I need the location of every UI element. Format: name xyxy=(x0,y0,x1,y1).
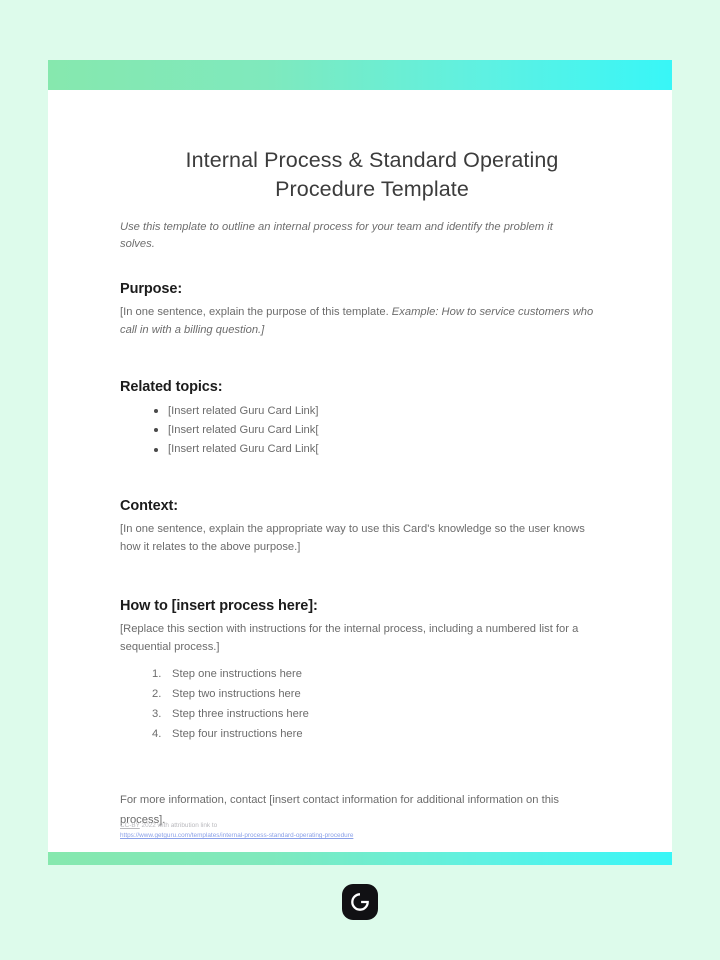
section-body-context: [In one sentence, explain the appropriat… xyxy=(120,520,598,556)
bottom-gradient-bar xyxy=(48,852,672,865)
section-heading-context: Context: xyxy=(120,459,624,514)
footer-attribution: CC-BY 2022 with attribution link to http… xyxy=(120,821,353,841)
page-title: Internal Process & Standard Operating Pr… xyxy=(120,90,624,203)
guru-logo-icon xyxy=(342,884,378,920)
how-to-steps-list: Step one instructions here Step two inst… xyxy=(120,665,624,745)
purpose-body-text: [In one sentence, explain the purpose of… xyxy=(120,306,392,318)
list-item: [Insert related Guru Card Link] xyxy=(168,402,624,421)
document-content: Internal Process & Standard Operating Pr… xyxy=(48,90,672,852)
closing-paragraph: For more information, contact [insert co… xyxy=(120,745,600,831)
attribution-link[interactable]: https://www.getguru.com/templates/intern… xyxy=(120,831,353,841)
brand-footer xyxy=(0,884,720,920)
document-sheet: Internal Process & Standard Operating Pr… xyxy=(48,60,672,865)
list-item: [Insert related Guru Card Link[ xyxy=(168,421,624,440)
page: Internal Process & Standard Operating Pr… xyxy=(0,0,720,960)
list-item: Step three instructions here xyxy=(172,705,624,725)
license-note: 2022 with attribution link to xyxy=(140,822,217,829)
section-heading-purpose: Purpose: xyxy=(120,253,624,297)
license-label: CC-BY xyxy=(120,822,140,829)
section-body-purpose: [In one sentence, explain the purpose of… xyxy=(120,303,598,339)
document-subtitle: Use this template to outline an internal… xyxy=(120,219,572,253)
section-body-how-to: [Replace this section with instructions … xyxy=(120,620,612,656)
list-item: Step two instructions here xyxy=(172,685,624,705)
top-gradient-bar xyxy=(48,60,672,90)
list-item: Step one instructions here xyxy=(172,665,624,685)
related-topics-list: [Insert related Guru Card Link] [Insert … xyxy=(120,402,624,460)
section-heading-related-topics: Related topics: xyxy=(120,340,624,395)
list-item: Step four instructions here xyxy=(172,725,624,745)
section-heading-how-to: How to [insert process here]: xyxy=(120,557,624,614)
list-item: [Insert related Guru Card Link[ xyxy=(168,440,624,459)
